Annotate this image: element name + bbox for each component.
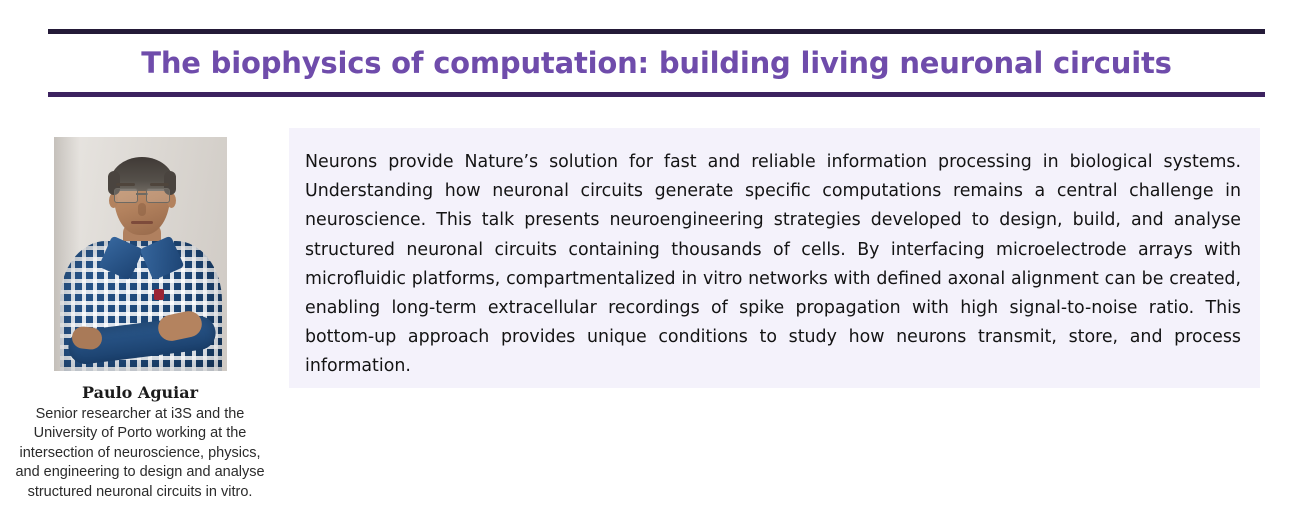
glasses-lens-right	[146, 188, 170, 203]
portrait-eyebrow-left	[116, 183, 135, 186]
page-title: The biophysics of computation: building …	[141, 46, 1171, 80]
speaker-name: Paulo Aguiar	[12, 383, 268, 403]
speaker-photo	[54, 137, 227, 371]
glasses-lens-left	[114, 188, 138, 203]
speaker-bio: Senior researcher at i3S and the Univers…	[12, 405, 268, 502]
abstract-body: Neurons provide Nature’s solution for fa…	[305, 148, 1241, 382]
speaker-panel: Paulo Aguiar Senior researcher at i3S an…	[12, 137, 268, 502]
portrait-shirt-logo	[154, 289, 164, 300]
abstract-panel: Neurons provide Nature’s solution for fa…	[289, 128, 1260, 388]
title-banner: The biophysics of computation: building …	[48, 29, 1265, 97]
portrait-mouth	[131, 221, 153, 224]
portrait-nose	[138, 203, 146, 216]
eyeglasses-icon	[112, 188, 172, 201]
portrait-eyebrow-right	[150, 183, 169, 186]
